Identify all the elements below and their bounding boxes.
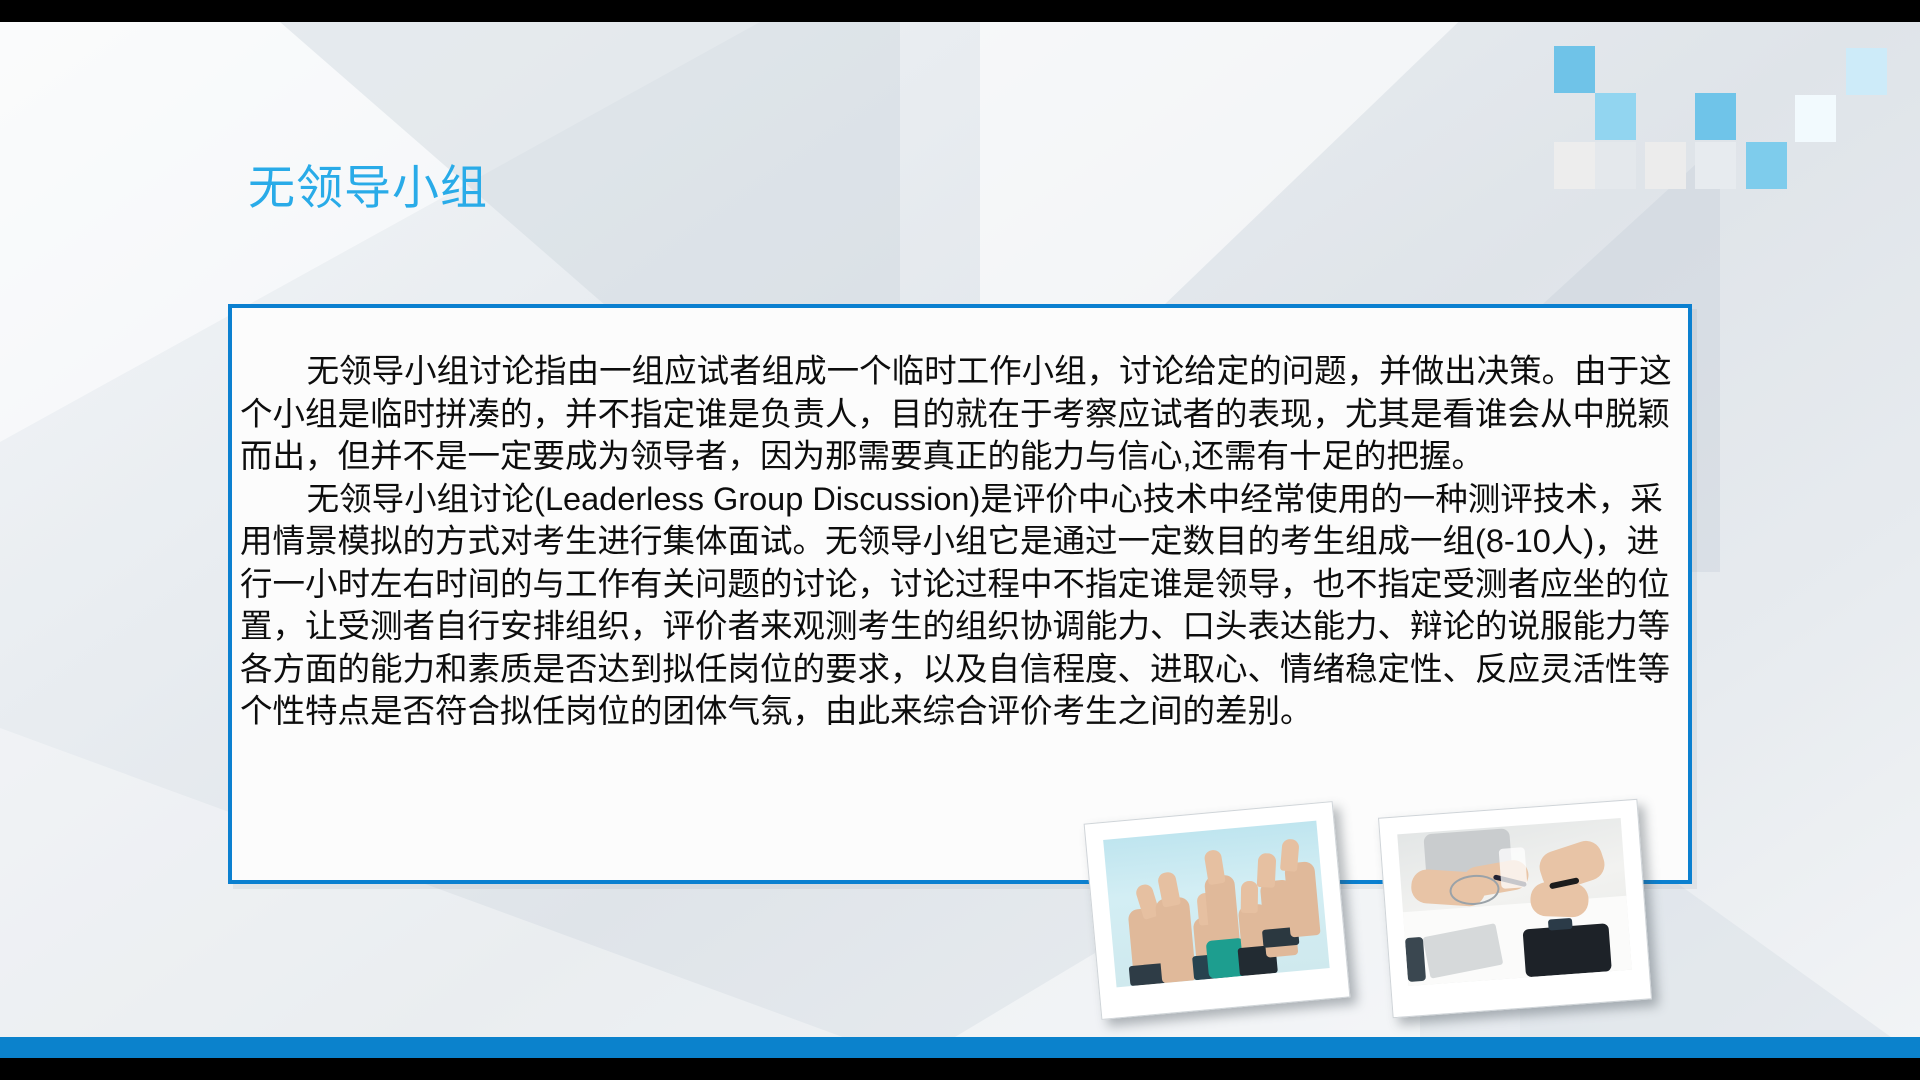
slide-title: 无领导小组 (248, 164, 488, 211)
decorative-square-mosaic (1540, 22, 1920, 200)
thumbs-up-photo (1084, 801, 1351, 1020)
business-meeting-photo (1378, 799, 1652, 1019)
mosaic-square (1595, 93, 1636, 140)
mosaic-square (1695, 142, 1736, 189)
mosaic-square (1746, 142, 1787, 189)
body-paragraph: 无领导小组讨论指由一组应试者组成一个临时工作小组，讨论给定的问题，并做出决策。由… (240, 350, 1688, 478)
mosaic-square (1595, 142, 1636, 189)
mosaic-square (1846, 48, 1887, 95)
letterbox-bottom (0, 1058, 1920, 1080)
mosaic-square (1554, 142, 1595, 189)
thumbs-up-photo-image (1103, 821, 1330, 988)
content-box: 无领导小组讨论指由一组应试者组成一个临时工作小组，讨论给定的问题，并做出决策。由… (228, 304, 1692, 884)
body-paragraph: 无领导小组讨论(Leaderless Group Discussion)是评价中… (240, 478, 1688, 733)
mosaic-square (1554, 46, 1595, 93)
business-meeting-photo-image (1397, 818, 1632, 986)
presentation-slide: 无领导小组 无领导小组讨论指由一组应试者组成一个临时工作小组，讨论给定的问题，并… (0, 22, 1920, 1058)
letterbox-top (0, 0, 1920, 22)
mosaic-square (1645, 142, 1686, 189)
bottom-accent-bar (0, 1037, 1920, 1058)
body-text: 无领导小组讨论指由一组应试者组成一个临时工作小组，讨论给定的问题，并做出决策。由… (240, 350, 1688, 733)
mosaic-square (1795, 95, 1836, 142)
mosaic-square (1695, 93, 1736, 140)
